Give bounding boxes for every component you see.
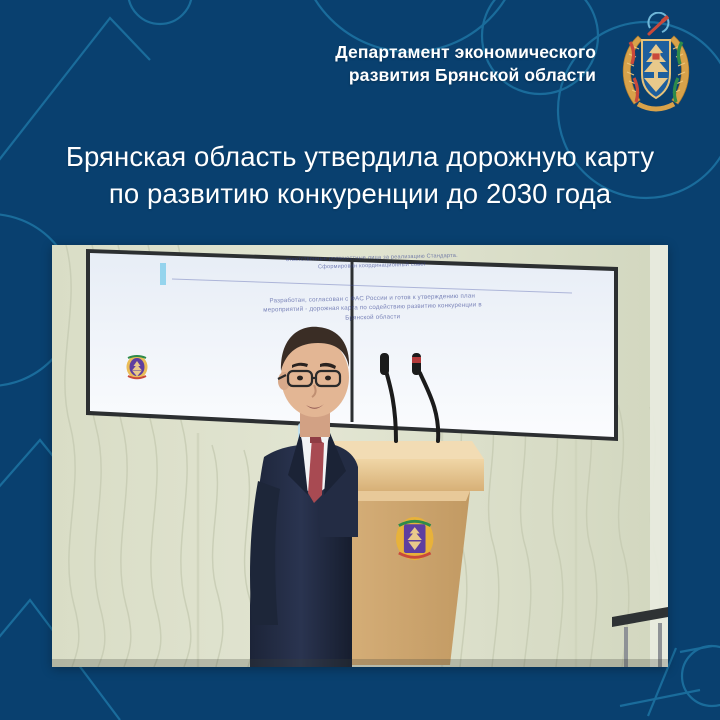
header: Департамент экономического развития Брян… (0, 0, 720, 128)
news-photo: ответственные должностные лица за реализ… (52, 245, 668, 667)
coat-of-arms-icon (608, 12, 704, 116)
department-title: Департамент экономического развития Брян… (335, 41, 596, 87)
page-title: Брянская область утвердила дорожную карт… (0, 138, 720, 213)
photo-scene (52, 245, 668, 667)
social-card: Департамент экономического развития Брян… (0, 0, 720, 720)
